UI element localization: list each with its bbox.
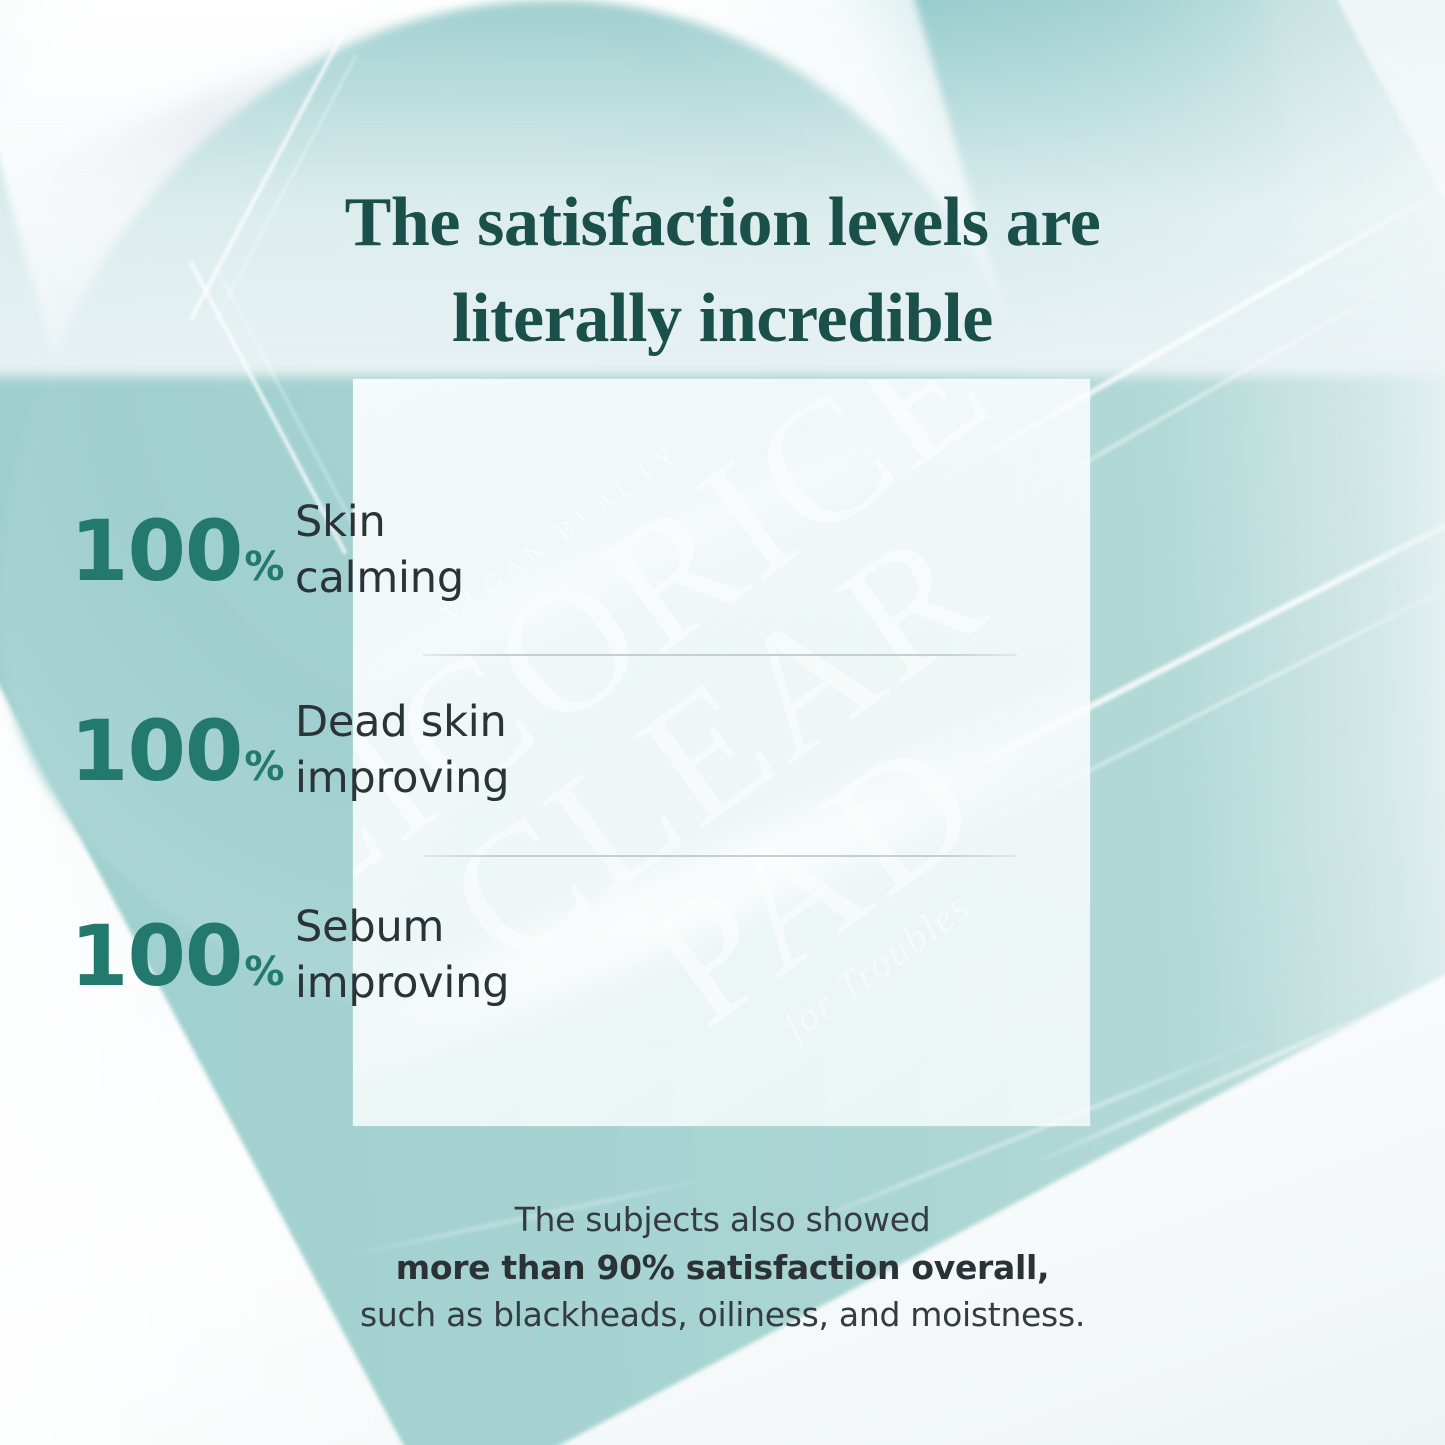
- stat-label-line-1: Dead skin: [295, 695, 509, 751]
- stat-label-line-1: Sebum: [295, 900, 509, 956]
- footer-line-2: more than 90% satisfaction overall,: [0, 1244, 1445, 1292]
- stat-label-line-2: improving: [295, 751, 509, 807]
- stat-number: 100: [70, 502, 242, 600]
- percent-symbol: %: [244, 544, 284, 590]
- percent-symbol: %: [244, 744, 284, 790]
- percent-symbol: %: [244, 949, 284, 995]
- stat-label-line-1: Skin: [295, 495, 464, 551]
- footer-line-3: such as blackheads, oiliness, and moistn…: [0, 1291, 1445, 1339]
- stat-label: Dead skin improving: [295, 695, 509, 807]
- stat-row: 100% Dead skin improving: [70, 695, 670, 807]
- stat-label: Skin calming: [295, 495, 464, 607]
- stat-number: 100: [70, 702, 242, 800]
- stat-value: 100%: [70, 709, 295, 793]
- poster-root: The satisfaction levels are literally in…: [0, 0, 1445, 1445]
- footer-line-1: The subjects also showed: [0, 1196, 1445, 1244]
- stat-label-line-2: improving: [295, 956, 509, 1012]
- stat-value: 100%: [70, 509, 295, 593]
- stat-value: 100%: [70, 914, 295, 998]
- stat-row: 100% Sebum improving: [70, 900, 670, 1012]
- stat-label: Sebum improving: [295, 900, 509, 1012]
- stat-divider: [423, 855, 1017, 857]
- stat-row: 100% Skin calming: [70, 495, 670, 607]
- stat-number: 100: [70, 907, 242, 1005]
- stat-label-line-2: calming: [295, 551, 464, 607]
- footer-note: The subjects also showed more than 90% s…: [0, 1196, 1445, 1339]
- stat-divider: [423, 654, 1017, 656]
